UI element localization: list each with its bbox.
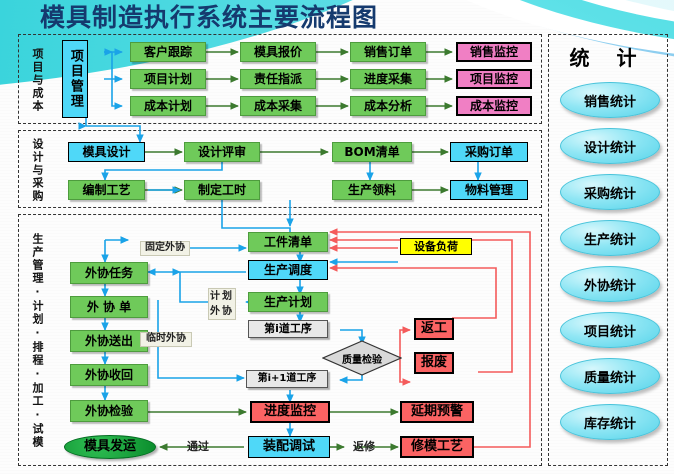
node-bom-list[interactable]: BOM清单 (332, 142, 412, 162)
node-outsource-order[interactable]: 外 协 单 (70, 296, 148, 318)
node-sales-order[interactable]: 销售订单 (350, 42, 426, 62)
node-cost-analysis[interactable]: 成本分析 (350, 96, 426, 116)
node-project-mgmt[interactable]: 项目管理 (62, 40, 88, 118)
node-equipment-load[interactable]: 设备负荷 (400, 238, 472, 255)
sidebar-item-purchase-stats[interactable]: 采购统计 (560, 174, 660, 210)
node-scrap[interactable]: 报废 (414, 352, 454, 374)
node-project-monitor[interactable]: 项目监控 (456, 69, 532, 89)
sidebar-item-project-stats[interactable]: 项目统计 (560, 312, 660, 348)
sidebar-item-outsource-stats[interactable]: 外协统计 (560, 266, 660, 302)
node-quality-inspect-label: 质量检验 (322, 340, 402, 376)
node-progress-monitor[interactable]: 进度监控 (250, 401, 330, 423)
node-delay-alarm[interactable]: 延期预警 (400, 401, 474, 423)
node-production-plan[interactable]: 生产计划 (248, 292, 328, 312)
node-worktime-set[interactable]: 制定工时 (184, 180, 260, 200)
node-repair-process[interactable]: 修模工艺 (400, 436, 474, 458)
node-outsource-return[interactable]: 外协收回 (70, 364, 148, 386)
node-production-schedule[interactable]: 生产调度 (248, 260, 328, 280)
node-outsource-send[interactable]: 外协送出 (70, 330, 148, 352)
node-cost-collect[interactable]: 成本采集 (240, 96, 316, 116)
node-purchase-order[interactable]: 采购订单 (450, 142, 528, 162)
sidebar-item-quality-stats[interactable]: 质量统计 (560, 358, 660, 394)
node-outsource-inspect[interactable]: 外协检验 (70, 400, 148, 422)
node-process-compile[interactable]: 编制工艺 (68, 180, 145, 200)
node-assembly-debug[interactable]: 装配调试 (248, 436, 330, 458)
sidebar-item-inventory-stats[interactable]: 库存统计 (560, 404, 660, 440)
node-cost-monitor[interactable]: 成本监控 (456, 96, 532, 116)
edge-label-repair: 返修 (345, 439, 383, 454)
page-title: 模具制造执行系统主要流程图 (40, 2, 470, 34)
section-label-project-cost: 项目与成本 (28, 40, 44, 120)
node-quality-inspect[interactable]: 质量检验 (322, 340, 402, 376)
node-project-plan[interactable]: 项目计划 (130, 69, 206, 89)
node-production-picking[interactable]: 生产领料 (332, 180, 412, 200)
node-mold-shipment[interactable]: 模具发运 (64, 435, 156, 459)
node-customer-follow[interactable]: 客户跟踪 (130, 42, 206, 62)
edge-label-pass: 通过 (178, 439, 218, 454)
sidebar-item-sales-stats[interactable]: 销售统计 (560, 82, 660, 118)
section-label-production: 生产管理·计划·排程·加工·试模 (28, 222, 44, 460)
node-outsource-task[interactable]: 外协任务 (70, 262, 148, 284)
node-mold-quote[interactable]: 模具报价 (240, 42, 316, 62)
node-workpiece-list[interactable]: 工件清单 (248, 232, 328, 252)
node-cost-plan[interactable]: 成本计划 (130, 96, 206, 116)
node-rework[interactable]: 返工 (414, 318, 454, 340)
statistics-panel-title: 统 计 (556, 42, 660, 71)
edge-label-fixed-outsource: 固定外协 (140, 241, 190, 256)
node-mold-design[interactable]: 模具设计 (68, 142, 145, 162)
slide-canvas: 模具制造执行系统主要流程图 项目与成本 设计与采购 生产管理·计划·排程·加工·… (0, 0, 674, 474)
sidebar-item-production-stats[interactable]: 生产统计 (560, 220, 660, 256)
node-material-mgmt[interactable]: 物料管理 (450, 180, 528, 200)
edge-label-temp-outsource: 临时外协 (140, 332, 192, 347)
sidebar-item-design-stats[interactable]: 设计统计 (560, 128, 660, 164)
node-duty-assign[interactable]: 责任指派 (240, 69, 316, 89)
node-progress-collect[interactable]: 进度采集 (350, 69, 426, 89)
node-process-i-plus-1[interactable]: 第i+1道工序 (246, 370, 328, 388)
node-process-i[interactable]: 第i道工序 (248, 320, 328, 338)
node-sales-monitor[interactable]: 销售监控 (456, 42, 532, 62)
node-design-review[interactable]: 设计评审 (184, 142, 260, 162)
section-label-design-purchase: 设计与采购 (28, 136, 44, 204)
edge-label-plan-outsource: 计划外协 (208, 288, 236, 320)
